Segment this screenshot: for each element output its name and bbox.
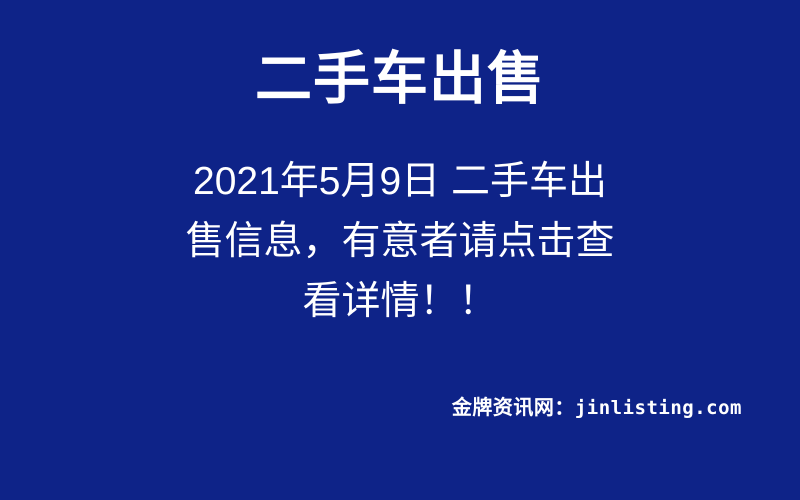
footer-brand-label: 金牌资讯网：	[452, 397, 575, 419]
page-title: 二手车出售	[255, 48, 545, 112]
footer-site-url: jinlisting.com	[575, 397, 742, 419]
title-container: 二手车出售	[0, 48, 800, 112]
body-text-container: 2021年5月9日 二手车出 售信息，有意者请点击查 看详情！！	[0, 152, 800, 332]
body-line-1: 2021年5月9日 二手车出	[0, 152, 800, 212]
poster-canvas: 二手车出售 2021年5月9日 二手车出 售信息，有意者请点击查 看详情！！ 金…	[0, 0, 800, 500]
body-line-2: 售信息，有意者请点击查	[0, 212, 800, 272]
watermark-footer: 金牌资讯网：jinlisting.com	[452, 391, 742, 420]
body-line-3: 看详情！！	[0, 272, 800, 332]
